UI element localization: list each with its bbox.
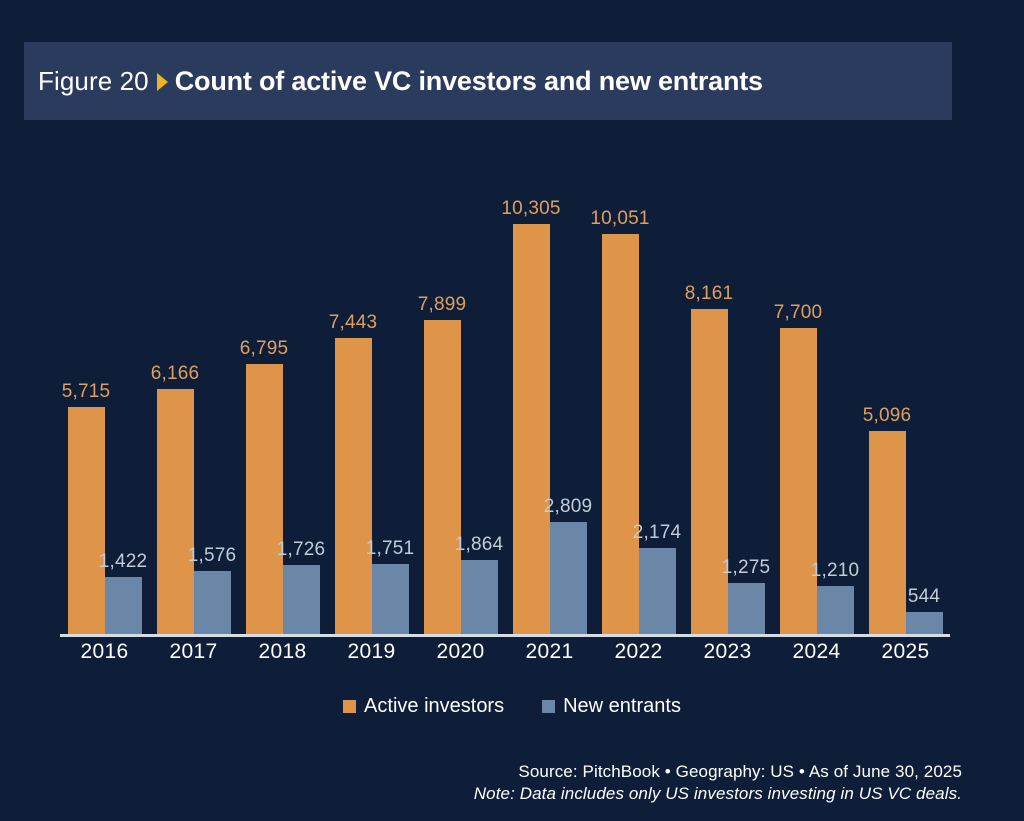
x-axis-labels: 2016201720182019202020212022202320242025 bbox=[60, 640, 950, 674]
legend-item-entrant[interactable]: New entrants bbox=[542, 695, 681, 718]
bar-group: 6,1661,576 bbox=[149, 150, 238, 634]
legend-label: Active investors bbox=[364, 695, 504, 718]
bar-value-label: 1,422 bbox=[99, 551, 148, 573]
bar-value-label: 5,096 bbox=[863, 405, 912, 427]
figure-title-band: Figure 20 Count of active VC investors a… bbox=[24, 42, 952, 120]
bar-entrant-2017[interactable]: 1,576 bbox=[194, 571, 231, 634]
bar-pair: 6,1661,576 bbox=[157, 389, 231, 634]
bar-value-label: 1,726 bbox=[277, 539, 326, 561]
bar-value-label: 7,443 bbox=[329, 312, 378, 334]
bar-group: 6,7951,726 bbox=[238, 150, 327, 634]
bar-active-2017[interactable]: 6,166 bbox=[157, 389, 194, 634]
x-tick-2019: 2019 bbox=[327, 640, 416, 674]
bar-pair: 10,3052,809 bbox=[513, 224, 587, 634]
bar-value-label: 6,795 bbox=[240, 338, 289, 360]
chart-footer: Source: PitchBook • Geography: US • As o… bbox=[474, 762, 962, 804]
bar-group: 7,8991,864 bbox=[416, 150, 505, 634]
triangle-right-icon bbox=[157, 73, 168, 91]
figure-title-inner: Figure 20 Count of active VC investors a… bbox=[24, 66, 763, 97]
figure-number: Figure 20 bbox=[38, 66, 149, 97]
x-tick-2020: 2020 bbox=[416, 640, 505, 674]
bar-pair: 10,0512,174 bbox=[602, 234, 676, 634]
x-axis-line bbox=[60, 634, 950, 637]
bar-active-2024[interactable]: 7,700 bbox=[780, 328, 817, 634]
bar-entrant-2021[interactable]: 2,809 bbox=[550, 522, 587, 634]
x-tick-2016: 2016 bbox=[60, 640, 149, 674]
x-tick-2024: 2024 bbox=[772, 640, 861, 674]
x-tick-2017: 2017 bbox=[149, 640, 238, 674]
bar-group: 5,7151,422 bbox=[60, 150, 149, 634]
bar-pair: 7,7001,210 bbox=[780, 328, 854, 634]
bar-value-label: 5,715 bbox=[62, 381, 111, 403]
bar-group: 10,3052,809 bbox=[505, 150, 594, 634]
bar-active-2025[interactable]: 5,096 bbox=[869, 431, 906, 634]
bar-active-2022[interactable]: 10,051 bbox=[602, 234, 639, 634]
bar-value-label: 1,864 bbox=[455, 534, 504, 556]
bar-active-2019[interactable]: 7,443 bbox=[335, 338, 372, 634]
bar-value-label: 7,700 bbox=[774, 302, 823, 324]
bar-pair: 6,7951,726 bbox=[246, 364, 320, 634]
source-line: Source: PitchBook • Geography: US • As o… bbox=[474, 762, 962, 782]
legend-swatch-entrant-icon bbox=[542, 700, 555, 713]
bar-value-label: 6,166 bbox=[151, 363, 200, 385]
bar-value-label: 7,899 bbox=[418, 294, 467, 316]
bar-active-2021[interactable]: 10,305 bbox=[513, 224, 550, 634]
bar-value-label: 2,809 bbox=[544, 496, 593, 518]
bar-value-label: 10,305 bbox=[501, 198, 560, 220]
note-line: Note: Data includes only US investors in… bbox=[474, 784, 962, 804]
bar-value-label: 544 bbox=[908, 586, 940, 608]
bar-entrant-2018[interactable]: 1,726 bbox=[283, 565, 320, 634]
chart-legend: Active investorsNew entrants bbox=[0, 695, 1024, 718]
legend-label: New entrants bbox=[563, 695, 681, 718]
bar-group: 10,0512,174 bbox=[594, 150, 683, 634]
bar-value-label: 8,161 bbox=[685, 283, 734, 305]
bar-value-label: 1,576 bbox=[188, 545, 237, 567]
bar-entrant-2023[interactable]: 1,275 bbox=[728, 583, 765, 634]
chart-plot-area: 5,7151,4226,1661,5766,7951,7267,4431,751… bbox=[60, 150, 950, 637]
bar-groups: 5,7151,4226,1661,5766,7951,7267,4431,751… bbox=[60, 150, 950, 634]
bar-active-2020[interactable]: 7,899 bbox=[424, 320, 461, 634]
legend-swatch-active-icon bbox=[343, 700, 356, 713]
legend-item-active[interactable]: Active investors bbox=[343, 695, 504, 718]
bar-value-label: 1,751 bbox=[366, 538, 415, 560]
bar-active-2016[interactable]: 5,715 bbox=[68, 407, 105, 634]
bar-pair: 5,7151,422 bbox=[68, 407, 142, 634]
x-tick-2025: 2025 bbox=[861, 640, 950, 674]
bar-entrant-2020[interactable]: 1,864 bbox=[461, 560, 498, 634]
bar-entrant-2025[interactable]: 544 bbox=[906, 612, 943, 634]
bar-value-label: 1,210 bbox=[811, 560, 860, 582]
bar-entrant-2019[interactable]: 1,751 bbox=[372, 564, 409, 634]
x-tick-2022: 2022 bbox=[594, 640, 683, 674]
bar-value-label: 10,051 bbox=[590, 208, 649, 230]
x-tick-2023: 2023 bbox=[683, 640, 772, 674]
bar-pair: 5,096544 bbox=[869, 431, 943, 634]
page-title: Count of active VC investors and new ent… bbox=[175, 66, 763, 97]
bar-entrant-2016[interactable]: 1,422 bbox=[105, 577, 142, 634]
bar-entrant-2022[interactable]: 2,174 bbox=[639, 548, 676, 634]
bar-group: 8,1611,275 bbox=[683, 150, 772, 634]
x-tick-2021: 2021 bbox=[505, 640, 594, 674]
bar-pair: 7,8991,864 bbox=[424, 320, 498, 634]
bar-value-label: 2,174 bbox=[633, 522, 682, 544]
bar-pair: 7,4431,751 bbox=[335, 338, 409, 634]
bar-active-2023[interactable]: 8,161 bbox=[691, 309, 728, 634]
bar-group: 7,4431,751 bbox=[327, 150, 416, 634]
bar-value-label: 1,275 bbox=[722, 557, 771, 579]
bar-active-2018[interactable]: 6,795 bbox=[246, 364, 283, 634]
bar-group: 7,7001,210 bbox=[772, 150, 861, 634]
x-tick-2018: 2018 bbox=[238, 640, 327, 674]
bar-pair: 8,1611,275 bbox=[691, 309, 765, 634]
bar-entrant-2024[interactable]: 1,210 bbox=[817, 586, 854, 634]
bar-group: 5,096544 bbox=[861, 150, 950, 634]
